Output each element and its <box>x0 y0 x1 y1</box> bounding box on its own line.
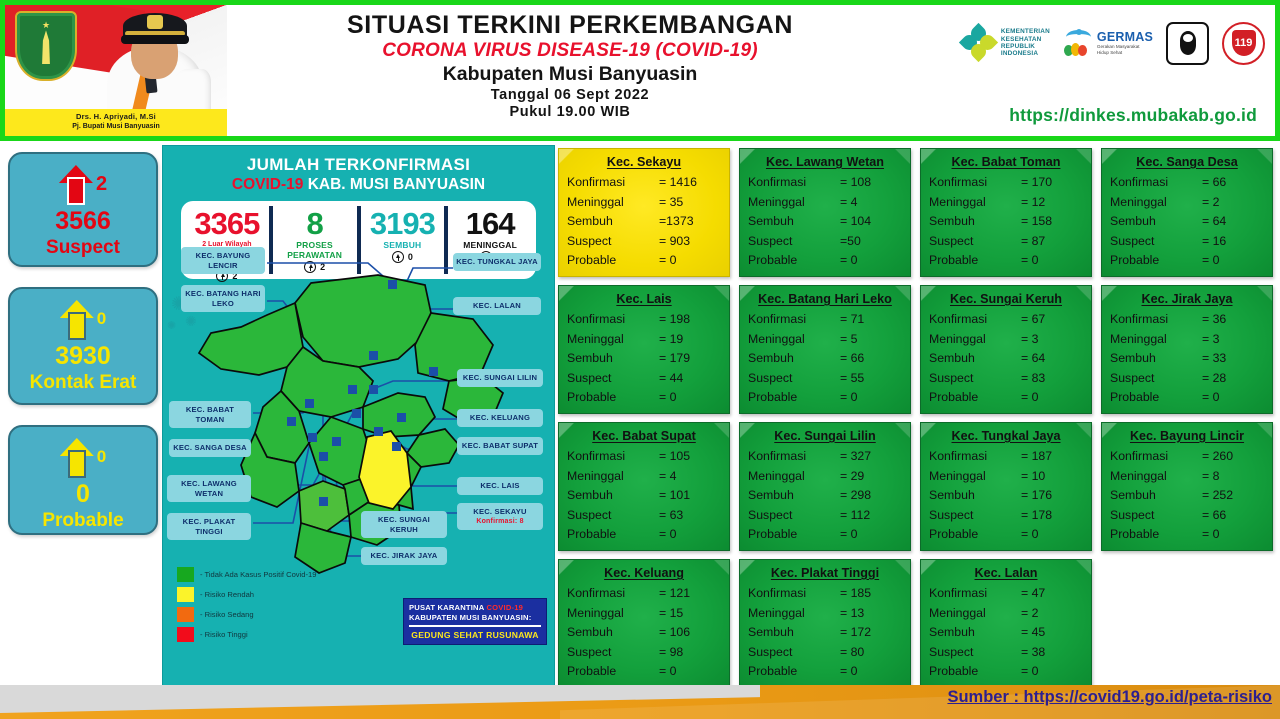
district-stat-label-sembuh: Sembuh <box>929 623 1021 643</box>
district-stat-value-probable: = 0 <box>1021 525 1083 545</box>
district-stat-row-suspect: Suspect= 112 <box>748 506 902 526</box>
district-stat-label-meninggal: Meninggal <box>929 193 1021 213</box>
legend-label-medium-risk: - Risiko Sedang <box>200 610 254 619</box>
district-stat-row-meninggal: Meninggal= 19 <box>567 330 721 350</box>
legend-swatch-orange-icon <box>177 607 194 622</box>
report-time: Pukul 19.00 WIB <box>230 104 910 121</box>
district-stat-value-probable: = 0 <box>1021 662 1083 682</box>
district-stat-row-probable: Probable= 0 <box>748 525 902 545</box>
district-stat-label-konfirmasi: Konfirmasi <box>1110 173 1202 193</box>
district-stat-label-probable: Probable <box>1110 525 1202 545</box>
district-stat-row-meninggal: Meninggal= 3 <box>1110 330 1264 350</box>
district-name: Kec. Babat Supat <box>567 428 721 445</box>
surveilans-epidemiologi-logo-icon <box>1166 22 1209 65</box>
district-stat-label-suspect: Suspect <box>567 643 659 663</box>
district-stat-label-probable: Probable <box>929 388 1021 408</box>
kemenkes-logo-text: KEMENTERIAN KESEHATAN REPUBLIK INDONESIA <box>1001 28 1050 58</box>
map-label-jirak-jaya[interactable]: KEC. JIRAK JAYA <box>361 547 447 565</box>
district-stat-label-sembuh: Sembuh <box>567 486 659 506</box>
district-stat-row-probable: Probable= 0 <box>567 388 721 408</box>
district-card-row: Kec. Babat SupatKonfirmasi= 105Meninggal… <box>558 422 1274 551</box>
district-stat-row-probable: Probable= 0 <box>567 525 721 545</box>
district-stat-label-suspect: Suspect <box>1110 232 1202 252</box>
district-stat-row-sembuh: Sembuh=1373 <box>567 212 721 232</box>
legend-label-no-case: - Tidak Ada Kasus Positif Covid-19 <box>200 570 317 579</box>
district-stat-label-suspect: Suspect <box>748 232 840 252</box>
district-stat-value-meninggal: = 3 <box>1202 330 1264 350</box>
legend-swatch-yellow-icon <box>177 587 194 602</box>
district-card-kec-sungai-keruh[interactable]: Kec. Sungai KeruhKonfirmasi= 67Meninggal… <box>920 285 1092 414</box>
portrait-hat-brim <box>121 35 189 44</box>
district-stat-row-meninggal: Meninggal= 13 <box>748 604 902 624</box>
map-panel-title: JUMLAH TERKONFIRMASI COVID-19 KAB. MUSI … <box>163 146 554 194</box>
district-stat-value-probable: = 0 <box>1021 251 1083 271</box>
district-stat-label-probable: Probable <box>748 251 840 271</box>
map-label-lalan[interactable]: KEC. LALAN <box>453 297 541 315</box>
district-stat-label-meninggal: Meninggal <box>567 330 659 350</box>
seal-star-icon: ★ <box>42 20 50 31</box>
district-stat-value-sembuh: = 176 <box>1021 486 1083 506</box>
district-stat-label-probable: Probable <box>567 388 659 408</box>
district-stat-value-konfirmasi: = 198 <box>659 310 721 330</box>
official-name-band: Drs. H. Apriyadi, M.Si Pj. Bupati Musi B… <box>5 109 227 136</box>
quarantine-line-2: KABUPATEN MUSI BANYUASIN: <box>409 613 541 623</box>
district-name: Kec. Batang Hari Leko <box>748 291 902 308</box>
district-stat-label-probable: Probable <box>1110 251 1202 271</box>
district-stat-label-sembuh: Sembuh <box>567 349 659 369</box>
district-map[interactable]: ✺ ✺ ✺ KEC. BAYUNG LENCIR KEC. BATANG HAR… <box>163 241 556 706</box>
district-stat-label-konfirmasi: Konfirmasi <box>1110 447 1202 467</box>
district-card-kec-tungkal-jaya[interactable]: Kec. Tungkal JayaKonfirmasi= 187Meningga… <box>920 422 1092 551</box>
district-stat-row-sembuh: Sembuh= 298 <box>748 486 902 506</box>
map-label-babat-toman[interactable]: KEC. BABAT TOMAN <box>169 401 251 428</box>
district-stat-value-suspect: =50 <box>840 232 902 252</box>
district-stat-label-suspect: Suspect <box>567 369 659 389</box>
district-stat-value-suspect: = 63 <box>659 506 721 526</box>
district-stat-value-konfirmasi: = 185 <box>840 584 902 604</box>
district-stat-row-konfirmasi: Konfirmasi= 185 <box>748 584 902 604</box>
district-stat-label-konfirmasi: Konfirmasi <box>748 173 840 193</box>
district-stat-value-sembuh: = 64 <box>1202 212 1264 232</box>
district-stat-row-suspect: Suspect= 16 <box>1110 232 1264 252</box>
district-stat-row-meninggal: Meninggal= 2 <box>1110 193 1264 213</box>
district-stat-value-konfirmasi: = 108 <box>840 173 902 193</box>
germas-sub-2: Hidup Sehat <box>1097 50 1153 55</box>
district-stat-value-konfirmasi: = 66 <box>1202 173 1264 193</box>
district-stat-value-probable: = 0 <box>840 525 902 545</box>
quarantine-covid-text: COVID-19 <box>486 603 523 612</box>
district-name: Kec. Sanga Desa <box>1110 154 1264 171</box>
district-stat-value-sembuh: = 45 <box>1021 623 1083 643</box>
district-stat-value-probable: = 0 <box>1021 388 1083 408</box>
district-stat-value-probable: = 0 <box>1202 388 1264 408</box>
district-name: Kec. Tungkal Jaya <box>929 428 1083 445</box>
district-stat-value-suspect: = 66 <box>1202 506 1264 526</box>
district-stat-row-suspect: Suspect= 98 <box>567 643 721 663</box>
district-stat-value-sembuh: = 106 <box>659 623 721 643</box>
district-card-kec-babat-toman[interactable]: Kec. Babat TomanKonfirmasi= 170Meninggal… <box>920 148 1092 277</box>
probable-total: 0 <box>16 479 150 509</box>
district-stat-label-probable: Probable <box>567 251 659 271</box>
district-stat-value-sembuh: = 104 <box>840 212 902 232</box>
musi-banyuasin-seal-icon: ★ <box>15 11 77 81</box>
district-stat-value-meninggal: = 13 <box>840 604 902 624</box>
map-region-bayung-lencir <box>295 275 431 367</box>
district-name: Kec. Keluang <box>567 565 721 582</box>
district-stat-value-sembuh: = 64 <box>1021 349 1083 369</box>
district-stat-label-meninggal: Meninggal <box>567 467 659 487</box>
district-stat-value-sembuh: = 66 <box>840 349 902 369</box>
meninggal-value: 164 <box>448 208 532 240</box>
district-stat-label-meninggal: Meninggal <box>748 467 840 487</box>
kemenkes-line-4: INDONESIA <box>1001 50 1050 57</box>
district-stat-label-suspect: Suspect <box>929 369 1021 389</box>
district-stat-label-probable: Probable <box>929 251 1021 271</box>
district-stat-value-probable: = 0 <box>1202 251 1264 271</box>
district-stat-label-sembuh: Sembuh <box>929 349 1021 369</box>
up-arrow-red-icon <box>59 165 93 203</box>
map-label-sanga-desa[interactable]: KEC. SANGA DESA <box>169 439 251 457</box>
kontak-erat-total: 3930 <box>16 341 150 371</box>
district-name: Kec. Lawang Wetan <box>748 154 902 171</box>
district-stat-row-konfirmasi: Konfirmasi= 105 <box>567 447 721 467</box>
district-card-kec-sekayu[interactable]: Kec. SekayuKonfirmasi= 1416Meninggal= 35… <box>558 148 730 277</box>
dinkes-website-link[interactable]: https://dinkes.mubakab.go.id <box>1009 105 1257 126</box>
district-stat-label-konfirmasi: Konfirmasi <box>1110 310 1202 330</box>
district-card-kec-sanga-desa[interactable]: Kec. Sanga DesaKonfirmasi= 66Meninggal= … <box>1101 148 1273 277</box>
district-stat-row-suspect: Suspect= 903 <box>567 232 721 252</box>
report-date: Tanggal 06 Sept 2022 <box>230 87 910 104</box>
header-banner: ★ Drs. H. Apriyadi, M.Si Pj. Bupati Musi… <box>0 0 1280 141</box>
district-stat-row-sembuh: Sembuh= 252 <box>1110 486 1264 506</box>
district-stat-label-meninggal: Meninggal <box>748 330 840 350</box>
district-stat-value-suspect: = 55 <box>840 369 902 389</box>
district-stat-value-suspect: = 87 <box>1021 232 1083 252</box>
district-stat-value-meninggal: = 2 <box>1021 604 1083 624</box>
map-label-batang-hari-leko[interactable]: KEC. BATANG HARI LEKO <box>181 285 265 312</box>
legend-item-medium-risk: - Risiko Sedang <box>177 607 317 622</box>
district-stat-label-meninggal: Meninggal <box>929 330 1021 350</box>
kemenkes-line-3: REPUBLIK <box>1001 43 1050 50</box>
district-stat-label-konfirmasi: Konfirmasi <box>929 173 1021 193</box>
kontak-erat-delta-row: 0 <box>16 297 150 341</box>
district-stat-row-suspect: Suspect= 63 <box>567 506 721 526</box>
kontak-erat-label: Kontak Erat <box>16 371 150 395</box>
district-stat-label-konfirmasi: Konfirmasi <box>567 447 659 467</box>
map-title-rest: KAB. MUSI BANYUASIN <box>303 176 485 193</box>
district-stat-value-meninggal: = 15 <box>659 604 721 624</box>
suspect-stat-card: 2 3566 Suspect <box>8 152 158 267</box>
district-name: Kec. Sekayu <box>567 154 721 171</box>
summary-sidebar: 2 3566 Suspect 0 3930 Kontak Erat 0 0 <box>8 152 158 555</box>
quarantine-center-box: PUSAT KARANTINA COVID-19 KABUPATEN MUSI … <box>403 598 547 645</box>
footer-bar: Sumber : https://covid19.go.id/peta-risi… <box>0 685 1280 719</box>
district-stat-value-probable: = 0 <box>659 388 721 408</box>
source-link[interactable]: Sumber : https://covid19.go.id/peta-risi… <box>947 688 1272 707</box>
map-label-tungkal-jaya[interactable]: KEC. TUNGKAL JAYA <box>453 253 541 271</box>
district-stat-row-sembuh: Sembuh= 158 <box>929 212 1083 232</box>
district-stat-row-meninggal: Meninggal= 4 <box>567 467 721 487</box>
district-stat-row-probable: Probable= 0 <box>1110 388 1264 408</box>
district-stat-row-konfirmasi: Konfirmasi= 327 <box>748 447 902 467</box>
district-stat-value-meninggal: = 12 <box>1021 193 1083 213</box>
district-stat-value-suspect: = 80 <box>840 643 902 663</box>
map-region-jirak-jaya <box>295 523 351 573</box>
virus-decoration-icon: ✺ <box>185 313 197 330</box>
kemenkes-line-1: KEMENTERIAN <box>1001 28 1050 35</box>
district-stat-value-sembuh: = 101 <box>659 486 721 506</box>
probable-delta-row: 0 <box>16 435 150 479</box>
district-stat-label-probable: Probable <box>748 525 840 545</box>
sembuh-value: 3193 <box>361 208 445 240</box>
district-stat-label-suspect: Suspect <box>929 232 1021 252</box>
emergency-number: 119 <box>1232 30 1256 56</box>
district-card-kec-lais[interactable]: Kec. LaisKonfirmasi= 198Meninggal= 19Sem… <box>558 285 730 414</box>
district-stat-label-suspect: Suspect <box>748 369 840 389</box>
district-stat-row-meninggal: Meninggal= 10 <box>929 467 1083 487</box>
district-stat-row-konfirmasi: Konfirmasi= 66 <box>1110 173 1264 193</box>
district-stat-label-sembuh: Sembuh <box>567 212 659 232</box>
district-stat-value-suspect: = 16 <box>1202 232 1264 252</box>
district-stat-row-probable: Probable= 0 <box>929 388 1083 408</box>
probable-label: Probable <box>16 509 150 533</box>
district-stat-value-konfirmasi: = 67 <box>1021 310 1083 330</box>
district-card-row: Kec. KeluangKonfirmasi= 121Meninggal= 15… <box>558 559 1274 688</box>
suspect-label: Suspect <box>16 236 150 260</box>
district-card-kec-plakat-tinggi[interactable]: Kec. Plakat TinggiKonfirmasi= 185Meningg… <box>739 559 911 688</box>
germas-name: GERMAS <box>1097 31 1153 44</box>
kemenkes-logo: KEMENTERIAN KESEHATAN REPUBLIK INDONESIA <box>962 26 1050 60</box>
district-card-kec-lawang-wetan[interactable]: Kec. Lawang WetanKonfirmasi= 108Meningga… <box>739 148 911 277</box>
map-label-sekayu-konfirmasi: Konfirmasi: 8 <box>460 517 540 527</box>
district-stat-label-meninggal: Meninggal <box>1110 330 1202 350</box>
district-stat-label-meninggal: Meninggal <box>1110 467 1202 487</box>
official-name: Drs. H. Apriyadi, M.Si <box>5 112 227 122</box>
district-stat-row-probable: Probable= 0 <box>748 251 902 271</box>
district-stat-row-meninggal: Meninggal= 4 <box>748 193 902 213</box>
district-stat-row-sembuh: Sembuh= 179 <box>567 349 721 369</box>
district-stat-label-suspect: Suspect <box>1110 506 1202 526</box>
district-stat-label-sembuh: Sembuh <box>929 486 1021 506</box>
district-stat-label-suspect: Suspect <box>748 643 840 663</box>
district-stat-label-konfirmasi: Konfirmasi <box>748 310 840 330</box>
district-stat-label-sembuh: Sembuh <box>748 623 840 643</box>
call-center-119-logo-icon: 119 <box>1222 22 1265 65</box>
district-stat-value-probable: = 0 <box>659 525 721 545</box>
district-name: Kec. Jirak Jaya <box>1110 291 1264 308</box>
district-stat-value-probable: = 0 <box>1202 525 1264 545</box>
district-stat-label-konfirmasi: Konfirmasi <box>567 173 659 193</box>
map-label-babat-supat[interactable]: KEC. BABAT SUPAT <box>457 437 543 455</box>
map-label-lawang-wetan[interactable]: KEC. LAWANG WETAN <box>167 475 251 502</box>
district-stat-row-sembuh: Sembuh= 104 <box>748 212 902 232</box>
district-stat-value-meninggal: = 35 <box>659 193 721 213</box>
district-stat-value-probable: = 0 <box>840 662 902 682</box>
kemenkes-line-2: KESEHATAN <box>1001 36 1050 43</box>
district-stat-value-meninggal: = 5 <box>840 330 902 350</box>
map-legend: - Tidak Ada Kasus Positif Covid-19 - Ris… <box>177 567 317 647</box>
district-name: Kec. Babat Toman <box>929 154 1083 171</box>
district-stat-row-meninggal: Meninggal= 12 <box>929 193 1083 213</box>
district-stat-label-konfirmasi: Konfirmasi <box>929 447 1021 467</box>
up-arrow-yellow-icon <box>60 438 94 476</box>
germas-logo: GERMAS Gerakan Masyarakat Hidup Sehat <box>1063 28 1153 58</box>
district-stat-value-sembuh: = 33 <box>1202 349 1264 369</box>
district-stat-value-meninggal: = 19 <box>659 330 721 350</box>
district-stat-value-suspect: = 28 <box>1202 369 1264 389</box>
map-label-sungai-keruh[interactable]: KEC. SUNGAI KERUH <box>361 511 447 538</box>
district-stat-value-konfirmasi: = 260 <box>1202 447 1264 467</box>
district-stat-value-meninggal: = 29 <box>840 467 902 487</box>
district-stat-label-sembuh: Sembuh <box>748 486 840 506</box>
map-title-covid: COVID-19 <box>232 176 304 193</box>
district-stat-label-suspect: Suspect <box>748 506 840 526</box>
district-stat-value-meninggal: = 3 <box>1021 330 1083 350</box>
district-stat-value-sembuh: =1373 <box>659 212 721 232</box>
district-stat-value-sembuh: = 158 <box>1021 212 1083 232</box>
district-stat-label-suspect: Suspect <box>567 506 659 526</box>
district-stat-row-suspect: Suspect= 83 <box>929 369 1083 389</box>
district-name: Kec. Sungai Keruh <box>929 291 1083 308</box>
district-card-row: Kec. LaisKonfirmasi= 198Meninggal= 19Sem… <box>558 285 1274 414</box>
district-name: Kec. Bayung Lincir <box>1110 428 1264 445</box>
perawatan-value: 8 <box>273 208 357 240</box>
district-stat-value-probable: = 0 <box>840 388 902 408</box>
district-stat-label-probable: Probable <box>567 662 659 682</box>
district-stat-row-probable: Probable= 0 <box>567 251 721 271</box>
district-stat-label-probable: Probable <box>748 662 840 682</box>
quarantine-venue: GEDUNG SEHAT RUSUNAWA <box>409 630 541 640</box>
quarantine-line-1a: PUSAT KARANTINA <box>409 603 486 612</box>
virus-decoration-icon: ✺ <box>167 319 176 332</box>
district-card-kec-bayung-lincir[interactable]: Kec. Bayung LincirKonfirmasi= 260Meningg… <box>1101 422 1273 551</box>
map-panel: JUMLAH TERKONFIRMASI COVID-19 KAB. MUSI … <box>162 145 555 705</box>
map-label-plakat-tinggi[interactable]: KEC. PLAKAT TINGGI <box>167 513 251 540</box>
district-cards-grid: Kec. SekayuKonfirmasi= 1416Meninggal= 35… <box>558 148 1274 696</box>
map-label-keluang[interactable]: KEC. KELUANG <box>457 409 543 427</box>
district-stat-label-probable: Probable <box>567 525 659 545</box>
district-stat-label-sembuh: Sembuh <box>1110 212 1202 232</box>
district-stat-row-konfirmasi: Konfirmasi= 260 <box>1110 447 1264 467</box>
quarantine-divider <box>409 625 541 627</box>
district-stat-label-sembuh: Sembuh <box>748 349 840 369</box>
probable-delta: 0 <box>97 447 106 467</box>
district-stat-row-probable: Probable= 0 <box>748 662 902 682</box>
district-stat-label-suspect: Suspect <box>567 232 659 252</box>
district-stat-value-meninggal: = 8 <box>1202 467 1264 487</box>
map-label-lais[interactable]: KEC. LAIS <box>457 477 543 495</box>
district-stat-row-konfirmasi: Konfirmasi= 1416 <box>567 173 721 193</box>
district-stat-row-probable: Probable= 0 <box>929 662 1083 682</box>
legend-label-high-risk: - Risiko Tinggi <box>200 630 248 639</box>
district-stat-row-konfirmasi: Konfirmasi= 36 <box>1110 310 1264 330</box>
district-stat-value-suspect: = 178 <box>1021 506 1083 526</box>
suspect-delta: 2 <box>96 173 107 196</box>
district-stat-row-suspect: Suspect= 66 <box>1110 506 1264 526</box>
district-stat-row-konfirmasi: Konfirmasi= 71 <box>748 310 902 330</box>
map-label-bayung-lencir[interactable]: KEC. BAYUNG LENCIR <box>181 247 265 274</box>
district-stat-row-konfirmasi: Konfirmasi= 121 <box>567 584 721 604</box>
district-stat-row-sembuh: Sembuh= 172 <box>748 623 902 643</box>
district-stat-label-sembuh: Sembuh <box>1110 486 1202 506</box>
germas-figure-icon <box>1063 28 1093 58</box>
district-stat-row-suspect: Suspect= 44 <box>567 369 721 389</box>
district-stat-row-konfirmasi: Konfirmasi= 108 <box>748 173 902 193</box>
district-stat-label-sembuh: Sembuh <box>1110 349 1202 369</box>
title-line-2: CORONA VIRUS DISEASE-19 (COVID-19) <box>230 39 910 62</box>
district-stat-value-konfirmasi: = 1416 <box>659 173 721 193</box>
map-label-sungai-lilin[interactable]: KEC. SUNGAI LILIN <box>457 369 543 387</box>
district-stat-label-konfirmasi: Konfirmasi <box>748 584 840 604</box>
district-card-kec-batang-hari-leko[interactable]: Kec. Batang Hari LekoKonfirmasi= 71Menin… <box>739 285 911 414</box>
legend-swatch-green-icon <box>177 567 194 582</box>
map-title-line-1: JUMLAH TERKONFIRMASI <box>163 155 554 175</box>
district-stat-row-konfirmasi: Konfirmasi= 170 <box>929 173 1083 193</box>
district-stat-row-meninggal: Meninggal= 8 <box>1110 467 1264 487</box>
district-stat-value-probable: = 0 <box>659 662 721 682</box>
district-stat-label-sembuh: Sembuh <box>567 623 659 643</box>
district-stat-label-sembuh: Sembuh <box>748 212 840 232</box>
infographic-page: ★ Drs. H. Apriyadi, M.Si Pj. Bupati Musi… <box>0 0 1280 719</box>
district-stat-row-suspect: Suspect= 80 <box>748 643 902 663</box>
district-stat-value-suspect: = 903 <box>659 232 721 252</box>
district-stat-value-konfirmasi: = 71 <box>840 310 902 330</box>
suspect-total: 3566 <box>16 206 150 236</box>
district-stat-label-probable: Probable <box>929 662 1021 682</box>
district-stat-row-sembuh: Sembuh= 176 <box>929 486 1083 506</box>
district-stat-label-meninggal: Meninggal <box>929 604 1021 624</box>
map-region-sekayu-low-risk <box>359 431 411 509</box>
map-region-batang-hari-leko <box>199 303 303 375</box>
district-stat-label-probable: Probable <box>748 388 840 408</box>
district-stat-row-suspect: Suspect= 38 <box>929 643 1083 663</box>
district-stat-row-sembuh: Sembuh= 64 <box>1110 212 1264 232</box>
district-stat-row-konfirmasi: Konfirmasi= 198 <box>567 310 721 330</box>
district-stat-row-suspect: Suspect=50 <box>748 232 902 252</box>
district-stat-value-konfirmasi: = 47 <box>1021 584 1083 604</box>
probable-stat-card: 0 0 Probable <box>8 425 158 535</box>
district-stat-row-suspect: Suspect= 55 <box>748 369 902 389</box>
map-label-sekayu[interactable]: KEC. SEKAYU Konfirmasi: 8 <box>457 503 543 530</box>
district-stat-row-meninggal: Meninggal= 29 <box>748 467 902 487</box>
district-stat-row-konfirmasi: Konfirmasi= 187 <box>929 447 1083 467</box>
district-stat-label-konfirmasi: Konfirmasi <box>567 584 659 604</box>
legend-item-high-risk: - Risiko Tinggi <box>177 627 317 642</box>
district-stat-row-sembuh: Sembuh= 45 <box>929 623 1083 643</box>
district-stat-row-suspect: Suspect= 178 <box>929 506 1083 526</box>
district-card-kec-babat-supat[interactable]: Kec. Babat SupatKonfirmasi= 105Meninggal… <box>558 422 730 551</box>
district-name: Kec. Plakat Tinggi <box>748 565 902 582</box>
district-card-kec-keluang[interactable]: Kec. KeluangKonfirmasi= 121Meninggal= 15… <box>558 559 730 688</box>
district-stat-row-konfirmasi: Konfirmasi= 67 <box>929 310 1083 330</box>
district-stat-row-konfirmasi: Konfirmasi= 47 <box>929 584 1083 604</box>
district-stat-row-meninggal: Meninggal= 15 <box>567 604 721 624</box>
district-card-row: Kec. SekayuKonfirmasi= 1416Meninggal= 35… <box>558 148 1274 277</box>
district-name: Kec. Sungai Lilin <box>748 428 902 445</box>
district-stat-label-suspect: Suspect <box>929 643 1021 663</box>
district-stat-label-konfirmasi: Konfirmasi <box>567 310 659 330</box>
district-stat-row-meninggal: Meninggal= 5 <box>748 330 902 350</box>
official-photo: ★ Drs. H. Apriyadi, M.Si Pj. Bupati Musi… <box>5 5 227 136</box>
district-stat-value-konfirmasi: = 170 <box>1021 173 1083 193</box>
district-stat-label-konfirmasi: Konfirmasi <box>748 447 840 467</box>
district-card-kec-lalan[interactable]: Kec. LalanKonfirmasi= 47Meninggal= 2Semb… <box>920 559 1092 688</box>
district-card-kec-sungai-lilin[interactable]: Kec. Sungai LilinKonfirmasi= 327Meningga… <box>739 422 911 551</box>
district-stat-value-konfirmasi: = 327 <box>840 447 902 467</box>
title-line-1: SITUASI TERKINI PERKEMBANGAN <box>230 11 910 39</box>
district-card-kec-jirak-jaya[interactable]: Kec. Jirak JayaKonfirmasi= 36Meninggal= … <box>1101 285 1273 414</box>
district-stat-label-konfirmasi: Konfirmasi <box>929 310 1021 330</box>
